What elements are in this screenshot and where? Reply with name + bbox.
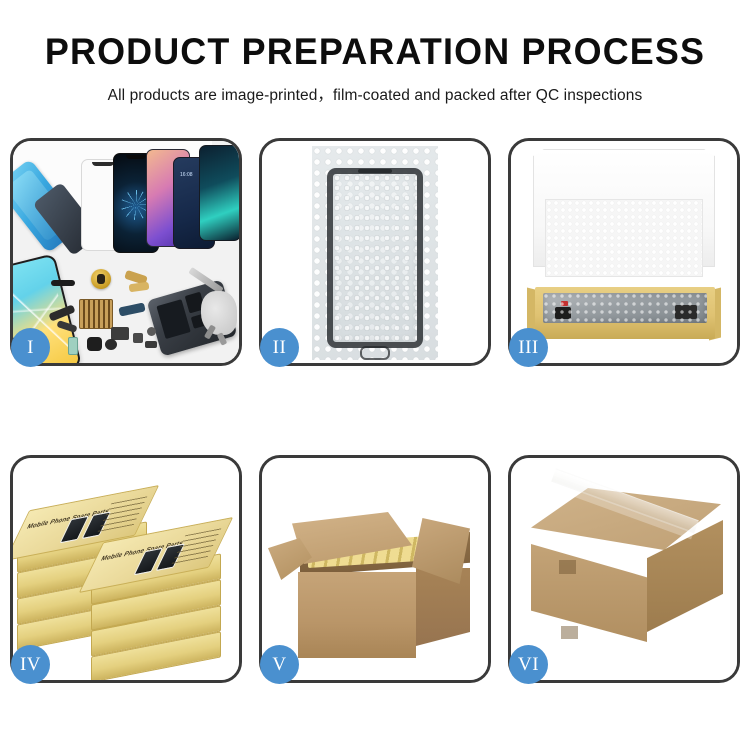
step-image-1: 16:08 [13,141,239,363]
page-title: PRODUCT PREPARATION PROCESS [11,33,739,72]
step-badge-2: II [260,328,299,367]
step-image-2 [262,141,488,363]
step-panel-6: VI [508,455,740,683]
step-badge-3: III [509,328,548,367]
kraft-box-body-icon [535,287,715,339]
step-panel-1: 16:08 [10,138,242,366]
carton-front-panel-icon [298,572,416,658]
wrapped-screen-icon [327,168,423,348]
speaker-part-icon [91,269,111,289]
red-label-mark-icon [561,301,568,306]
process-steps-grid: 16:08 [10,138,740,683]
step-panel-4: Mobile Phone Spare Parts Mobile Phone Sp… [10,455,242,683]
screw-tray-icon [79,299,113,329]
step-panel-3: III [508,138,740,366]
screen-connector-icon [555,307,571,319]
packed-screen-icon [543,293,707,323]
step-badge-6: VI [509,645,548,684]
step-image-3 [511,141,737,363]
step-badge-5: V [260,645,299,684]
teal-phone-icon [199,145,239,241]
step-panel-5: V [259,455,491,683]
bubble-texture-overlay [333,174,417,342]
step-image-6 [511,458,737,680]
board-chip-large [156,299,190,339]
step-panel-2: II [259,138,491,366]
small-part-icon-1 [133,333,143,343]
product-preparation-page: PRODUCT PREPARATION PROCESS All products… [0,0,750,750]
small-part-icon-3 [145,341,157,348]
camera-lens-icon [105,339,117,350]
screen-connector-icon-2 [675,305,697,319]
step-image-4: Mobile Phone Spare Parts Mobile Phone Sp… [13,458,239,680]
sensor-part-icon [68,337,78,355]
carton-handle-tab-icon-2 [561,626,578,639]
small-part-icon-2 [147,327,156,336]
box-stack: Mobile Phone Spare Parts Mobile Phone Sp… [15,472,239,670]
step-badge-4: IV [11,645,50,684]
step-badge-1: I [11,328,50,367]
phone-clock-text: 16:08 [180,172,193,178]
hand-icon [201,291,237,335]
camera-module-icon [87,337,102,351]
page-header: PRODUCT PREPARATION PROCESS All products… [0,0,750,105]
carton-side-panel-icon [416,568,470,646]
carton-handle-tab-icon-1 [559,560,576,574]
battery-part-icon [111,327,129,340]
bubble-wrap-sheet [312,146,438,360]
page-subtitle: All products are image-printed，film-coat… [0,83,750,105]
antenna-bar-part-icon [51,280,75,286]
sealed-carton-front-icon [531,544,647,642]
foam-padding-icon [545,199,703,277]
step-image-5 [262,458,488,680]
